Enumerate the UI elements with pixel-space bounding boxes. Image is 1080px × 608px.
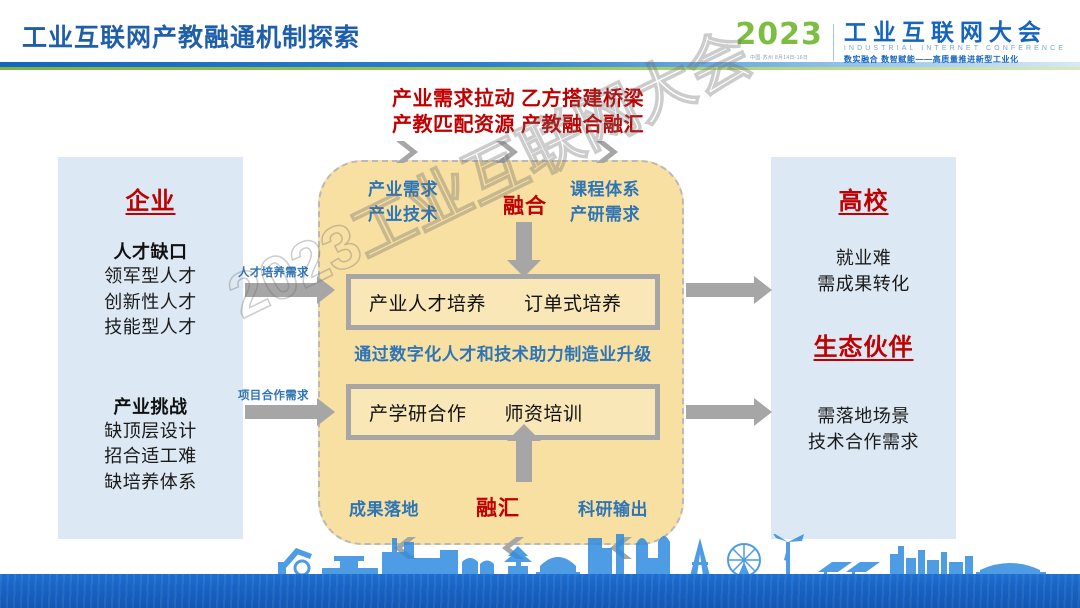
enterprise-group2-item-2: 缺培养体系 — [58, 470, 243, 496]
enterprise-panel-spacer — [58, 341, 243, 371]
bottom-skyline-band — [0, 534, 1080, 608]
arrow-right-icon-out-bottom — [686, 405, 754, 419]
academy-panel-heading-1: 高校 — [771, 181, 956, 216]
arrow-right-icon-in-bottom — [245, 405, 317, 419]
academy-group2-item-1: 技术合作需求 — [771, 430, 956, 456]
fusion-bottom-label: 融汇 — [448, 492, 548, 522]
arrow-right-icon-out-top — [686, 283, 754, 297]
slide-canvas: 工业互联网产教融通机制探索 2023 中国·苏州 8月14日-16日 工业互联网… — [0, 0, 1080, 608]
arrow-label-talent-demand: 人才培养需求 — [238, 264, 309, 280]
center-right-label-0: 课程体系 — [570, 178, 640, 203]
training-box-top: 产业人才培养 订单式培养 — [346, 274, 660, 330]
training-box-top-right: 订单式培养 — [524, 289, 622, 316]
page-title: 工业互联网产教融通机制探索 — [22, 18, 360, 54]
headline-line-2: 产教匹配资源 产教融合融汇 — [368, 112, 668, 138]
logo-text-block: 工业互联网大会 INDUSTRIAL INTERNET CONFERENCE 数… — [844, 20, 1066, 65]
headline-line-1: 产业需求拉动 乙方搭建桥梁 — [368, 86, 668, 112]
enterprise-panel: 企业 人才缺口 领军型人才 创新性人才 技能型人才 产业挑战 缺顶层设计 招合适… — [58, 157, 243, 539]
academy-panel-heading-2: 生态伙伴 — [771, 327, 956, 362]
training-box-bottom-left: 产学研合作 — [369, 399, 467, 426]
down-arrow-icon — [516, 222, 532, 262]
center-fusion-card: 产业需求 产业技术 融合 课程体系 产研需求 产业人才培养 订单式培养 通过数字… — [318, 160, 684, 545]
chevron-right-icon-top-1 — [392, 137, 422, 167]
center-bottom-right-label: 科研输出 — [548, 495, 678, 520]
center-left-labels: 产业需求 产业技术 — [368, 178, 438, 227]
enterprise-group1-item-1: 创新性人才 — [58, 290, 243, 316]
logo-divider — [833, 24, 834, 61]
enterprise-group1-item-2: 技能型人才 — [58, 315, 243, 341]
fusion-top-label: 融合 — [480, 190, 570, 220]
training-box-bottom-right: 师资培训 — [505, 399, 583, 426]
enterprise-group1-title: 人才缺口 — [58, 238, 243, 264]
logo-year-location: 中国·苏州 8月14日-16日 — [735, 54, 823, 61]
center-bottom-left-label: 成果落地 — [320, 495, 448, 520]
center-bottom-labels: 成果落地 融汇 科研输出 — [320, 492, 686, 522]
academy-group1-item-1: 需成果转化 — [771, 272, 956, 298]
header-rule-green — [0, 67, 1080, 70]
enterprise-group1-item-0: 领军型人才 — [58, 264, 243, 290]
training-box-bottom: 产学研合作 师资培训 — [346, 384, 660, 440]
up-arrow-icon — [516, 440, 532, 482]
training-box-top-left: 产业人才培养 — [369, 289, 486, 316]
center-middle-note: 通过数字化人才和技术助力制造业升级 — [320, 340, 686, 365]
arrow-label-project-demand: 项目合作需求 — [238, 387, 309, 403]
enterprise-group2-title: 产业挑战 — [58, 393, 243, 419]
logo-name-en: INDUSTRIAL INTERNET CONFERENCE — [844, 45, 1066, 52]
academy-panel: 高校 就业难 需成果转化 生态伙伴 需落地场景 技术合作需求 — [771, 157, 956, 539]
chevron-right-icon-top-2 — [492, 137, 522, 167]
chevron-right-icon-top-3 — [592, 137, 622, 167]
headline-block: 产业需求拉动 乙方搭建桥梁 产教匹配资源 产教融合融汇 — [368, 86, 668, 139]
academy-panel-spacer-3 — [771, 362, 956, 404]
logo-year: 2023 — [735, 20, 823, 50]
center-left-label-1: 产业技术 — [368, 203, 438, 228]
academy-panel-spacer-1 — [771, 216, 956, 246]
enterprise-group2-item-1: 招合适工难 — [58, 444, 243, 470]
logo-slogan: 数实融合 数智赋能——高质量推进新型工业化 — [844, 54, 1066, 65]
logo-year-block: 2023 中国·苏州 8月14日-16日 — [735, 20, 833, 61]
arrow-right-icon-in-top — [245, 283, 317, 297]
logo-name-cn: 工业互联网大会 — [844, 20, 1066, 44]
academy-group2-item-0: 需落地场景 — [771, 404, 956, 430]
enterprise-panel-heading: 企业 — [58, 181, 243, 216]
enterprise-group2-item-0: 缺顶层设计 — [58, 419, 243, 445]
academy-group1-item-0: 就业难 — [771, 246, 956, 272]
center-right-labels: 课程体系 产研需求 — [570, 178, 640, 227]
center-right-label-1: 产研需求 — [570, 203, 640, 228]
center-left-label-0: 产业需求 — [368, 178, 438, 203]
academy-panel-spacer-2 — [771, 297, 956, 327]
sea-shine-overlay — [0, 574, 1080, 608]
conference-logo: 2023 中国·苏州 8月14日-16日 工业互联网大会 INDUSTRIAL … — [735, 20, 1066, 65]
skyline-silhouettes — [0, 534, 1080, 578]
